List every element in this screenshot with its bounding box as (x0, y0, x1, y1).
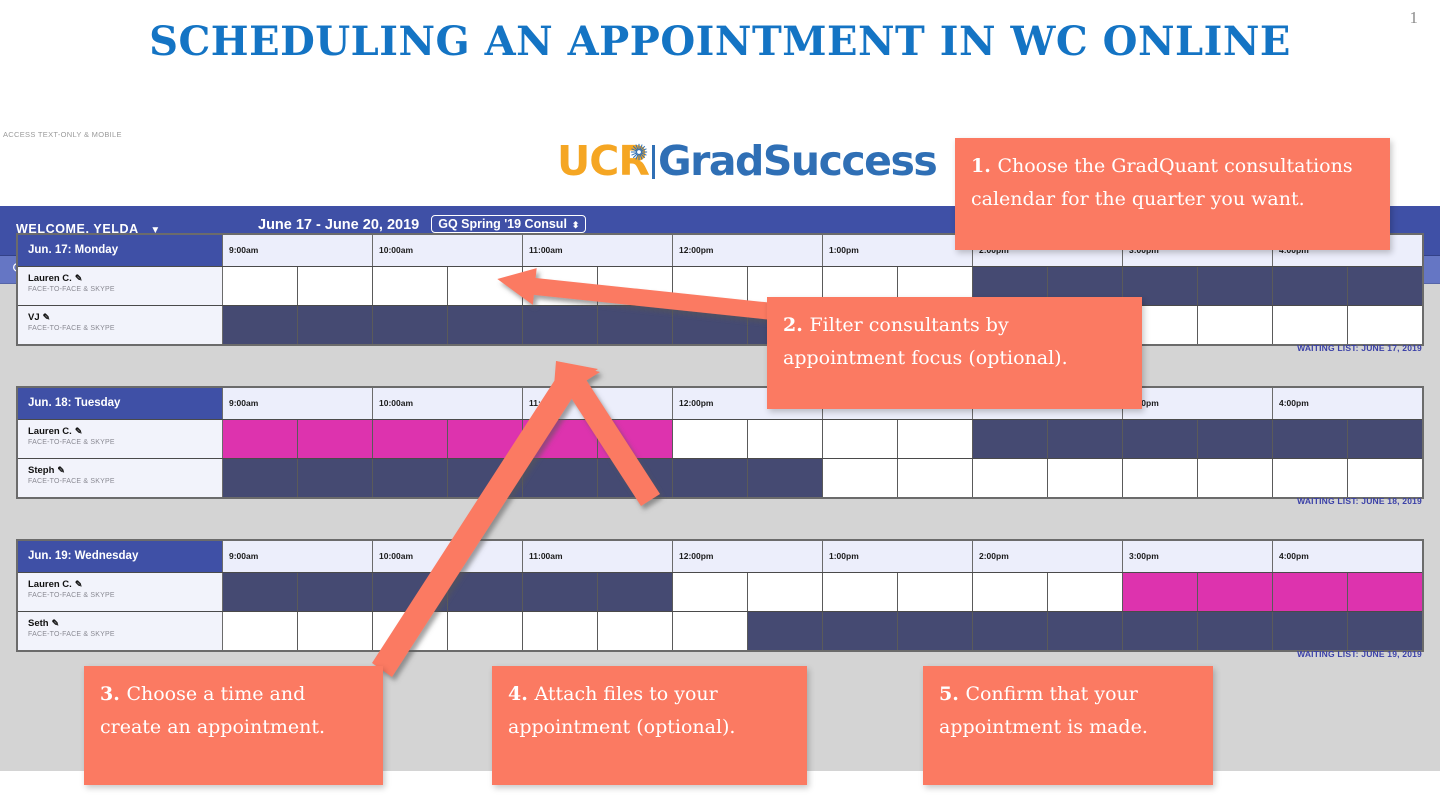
slot-unavailable (748, 459, 823, 497)
slot-available[interactable] (1048, 459, 1123, 497)
slot-available[interactable] (448, 612, 523, 650)
consultant-modality: FACE-TO-FACE & SKYPE (28, 631, 222, 638)
logo-gradsuccess-text: GradSuccess (658, 137, 936, 185)
hour-header: 3:00pm (1123, 541, 1273, 572)
slot-unavailable (1123, 420, 1198, 458)
slot-booked (373, 420, 448, 458)
page-title: SCHEDULING AN APPOINTMENT IN WC ONLINE (0, 18, 1440, 65)
slot-available[interactable] (973, 459, 1048, 497)
slot-unavailable (1348, 420, 1422, 458)
hour-header: 11:00am (523, 541, 673, 572)
access-text-only-link[interactable]: ACCESS TEXT-ONLY & MOBILE (3, 130, 122, 139)
slot-booked (1273, 573, 1348, 611)
week-range-row: June 17 - June 20, 2019 GQ Spring '19 Co… (258, 215, 586, 233)
hour-header: 4:00pm (1273, 388, 1422, 419)
slot-available[interactable] (973, 573, 1048, 611)
slot-available[interactable] (448, 267, 523, 305)
slot-available[interactable] (823, 420, 898, 458)
callout-text: Attach files to your appointment (option… (508, 683, 735, 738)
slot-booked (1123, 573, 1198, 611)
consultant-modality: FACE-TO-FACE & SKYPE (28, 286, 222, 293)
consultant-name: VJ✎ (28, 312, 222, 323)
hour-header: 10:00am (373, 235, 523, 266)
slot-unavailable (448, 459, 523, 497)
slot-available[interactable] (673, 420, 748, 458)
consultant-row: Lauren C.✎FACE-TO-FACE & SKYPE (18, 419, 1422, 458)
sunburst-icon (630, 143, 648, 161)
hour-header: 2:00pm (973, 541, 1123, 572)
ucr-gradsuccess-logo: UCRGradSuccess (557, 141, 936, 182)
slot-unavailable (448, 306, 523, 344)
callout-text: Choose a time and create an appointment. (100, 683, 325, 738)
consultant-row: Lauren C.✎FACE-TO-FACE & SKYPE (18, 266, 1422, 305)
slot-available[interactable] (1123, 459, 1198, 497)
slot-available[interactable] (1273, 459, 1348, 497)
slot-available[interactable] (1198, 459, 1273, 497)
slot-unavailable (298, 306, 373, 344)
hour-header: 4:00pm (1273, 541, 1422, 572)
slot-unavailable (673, 306, 748, 344)
consultant-row: VJ✎FACE-TO-FACE & SKYPE (18, 305, 1422, 344)
consultant-modality: FACE-TO-FACE & SKYPE (28, 592, 222, 599)
waiting-list-link[interactable]: WAITING LIST: JUNE 19, 2019 (1297, 649, 1422, 659)
slot-strip (223, 612, 1422, 650)
day-label: Jun. 18: Tuesday (18, 388, 223, 419)
slot-available[interactable] (223, 612, 298, 650)
slot-unavailable (973, 420, 1048, 458)
slot-unavailable (523, 573, 598, 611)
slot-unavailable (898, 612, 973, 650)
consultant-row: Lauren C.✎FACE-TO-FACE & SKYPE (18, 572, 1422, 611)
slot-available[interactable] (823, 573, 898, 611)
callout-number: 3. (100, 683, 126, 705)
slot-available[interactable] (598, 267, 673, 305)
slot-strip (223, 459, 1422, 497)
slot-unavailable (523, 306, 598, 344)
slot-unavailable (1348, 267, 1422, 305)
hour-header: 11:00am (523, 235, 673, 266)
consultant-row: Steph✎FACE-TO-FACE & SKYPE (18, 458, 1422, 497)
slot-unavailable (1198, 612, 1273, 650)
consultant-modality: FACE-TO-FACE & SKYPE (28, 325, 222, 332)
consultant-name: Lauren C.✎ (28, 426, 222, 437)
term-select-value: GQ Spring '19 Consul (438, 217, 567, 231)
consultant-row: Seth✎FACE-TO-FACE & SKYPE (18, 611, 1422, 650)
slot-available[interactable] (898, 459, 973, 497)
consultant-name: Steph✎ (28, 465, 222, 476)
slot-booked (298, 420, 373, 458)
slot-available[interactable] (898, 420, 973, 458)
slot-available[interactable] (1273, 306, 1348, 344)
consultant-name-cell: Steph✎FACE-TO-FACE & SKYPE (18, 459, 223, 497)
term-select[interactable]: GQ Spring '19 Consul⬍ (431, 215, 586, 233)
callout-5: 5. Confirm that your appointment is made… (923, 666, 1213, 785)
pencil-icon[interactable]: ✎ (75, 426, 83, 436)
pencil-icon[interactable]: ✎ (52, 618, 60, 628)
slot-unavailable (823, 612, 898, 650)
slot-available[interactable] (523, 267, 598, 305)
pencil-icon[interactable]: ✎ (75, 579, 83, 589)
logo-divider (652, 145, 655, 179)
callout-3: 3. Choose a time and create an appointme… (84, 666, 383, 785)
slot-unavailable (373, 306, 448, 344)
callout-text: Choose the GradQuant consultations calen… (971, 155, 1353, 210)
slot-strip (223, 420, 1422, 458)
waiting-list-link[interactable]: WAITING LIST: JUNE 18, 2019 (1297, 496, 1422, 506)
hour-header: 1:00pm (823, 541, 973, 572)
slot-available[interactable] (673, 267, 748, 305)
pencil-icon[interactable]: ✎ (57, 465, 65, 475)
slot-unavailable (298, 459, 373, 497)
slot-available[interactable] (673, 573, 748, 611)
slot-available[interactable] (673, 612, 748, 650)
logo-uc-text: UC (557, 137, 618, 185)
hour-header: 9:00am (223, 235, 373, 266)
slot-available[interactable] (223, 267, 298, 305)
slot-unavailable (223, 306, 298, 344)
callout-text: Filter consultants by appointment focus … (783, 314, 1068, 369)
hour-header: 11:00am (523, 388, 673, 419)
slot-available[interactable] (1348, 459, 1422, 497)
callout-number: 5. (939, 683, 965, 705)
hour-header: 12:00pm (673, 235, 823, 266)
day-label: Jun. 17: Monday (18, 235, 223, 266)
callout-number: 4. (508, 683, 534, 705)
slot-unavailable (1048, 420, 1123, 458)
callout-1: 1. Choose the GradQuant consultations ca… (955, 138, 1390, 250)
slot-available[interactable] (373, 612, 448, 650)
slot-unavailable (448, 573, 523, 611)
slot-available[interactable] (523, 612, 598, 650)
slot-unavailable (1198, 267, 1273, 305)
waiting-list-link[interactable]: WAITING LIST: JUNE 17, 2019 (1297, 343, 1422, 353)
day-block: Jun. 19: Wednesday9:00am10:00am11:00am12… (16, 539, 1424, 652)
slot-available[interactable] (1048, 573, 1123, 611)
slot-unavailable (223, 459, 298, 497)
slot-booked (223, 420, 298, 458)
select-arrows-icon: ⬍ (572, 220, 580, 230)
slot-available[interactable] (373, 267, 448, 305)
day-header: Jun. 18: Tuesday9:00am10:00am11:00am12:0… (18, 388, 1422, 419)
hour-header: 3:00pm (1123, 388, 1273, 419)
slot-unavailable (1348, 612, 1422, 650)
consultant-name-cell: Lauren C.✎FACE-TO-FACE & SKYPE (18, 267, 223, 305)
slot-unavailable (373, 459, 448, 497)
slot-strip (223, 573, 1422, 611)
slot-unavailable (1123, 612, 1198, 650)
slot-unavailable (1273, 420, 1348, 458)
pencil-icon[interactable]: ✎ (43, 312, 51, 322)
consultant-name-cell: Seth✎FACE-TO-FACE & SKYPE (18, 612, 223, 650)
hour-header: 12:00pm (673, 541, 823, 572)
slot-unavailable (598, 306, 673, 344)
slot-booked (448, 420, 523, 458)
callout-4: 4. Attach files to your appointment (opt… (492, 666, 807, 785)
consultant-name-cell: Lauren C.✎FACE-TO-FACE & SKYPE (18, 420, 223, 458)
slot-unavailable (223, 573, 298, 611)
slot-available[interactable] (1348, 306, 1422, 344)
slot-available[interactable] (823, 459, 898, 497)
slot-unavailable (973, 612, 1048, 650)
callout-number: 1. (971, 155, 997, 177)
slot-available[interactable] (298, 267, 373, 305)
hour-header: 10:00am (373, 388, 523, 419)
slot-unavailable (523, 459, 598, 497)
slot-booked (598, 420, 673, 458)
slot-unavailable (1273, 267, 1348, 305)
slot-booked (1198, 573, 1273, 611)
slot-unavailable (1048, 612, 1123, 650)
day-label: Jun. 19: Wednesday (18, 541, 223, 572)
slot-available[interactable] (748, 420, 823, 458)
consultant-name-cell: Lauren C.✎FACE-TO-FACE & SKYPE (18, 573, 223, 611)
slot-booked (523, 420, 598, 458)
slot-unavailable (598, 459, 673, 497)
slot-unavailable (373, 573, 448, 611)
slot-available[interactable] (298, 612, 373, 650)
slot-unavailable (748, 612, 823, 650)
callout-text: Confirm that your appointment is made. (939, 683, 1148, 738)
week-range-label: June 17 - June 20, 2019 (258, 217, 419, 233)
hour-header: 9:00am (223, 541, 373, 572)
consultant-modality: FACE-TO-FACE & SKYPE (28, 439, 222, 446)
slot-available[interactable] (1198, 306, 1273, 344)
slot-booked (1348, 573, 1422, 611)
day-header: Jun. 19: Wednesday9:00am10:00am11:00am12… (18, 541, 1422, 572)
slot-unavailable (1198, 420, 1273, 458)
consultant-name: Lauren C.✎ (28, 579, 222, 590)
slot-available[interactable] (748, 573, 823, 611)
slot-unavailable (673, 459, 748, 497)
consultant-name: Seth✎ (28, 618, 222, 629)
hour-header: 9:00am (223, 388, 373, 419)
hour-header: 1:00pm (823, 235, 973, 266)
slot-unavailable (598, 573, 673, 611)
callout-2: 2. Filter consultants by appointment foc… (767, 297, 1142, 409)
slot-available[interactable] (598, 612, 673, 650)
callout-number: 2. (783, 314, 809, 336)
slot-unavailable (298, 573, 373, 611)
slot-available[interactable] (898, 573, 973, 611)
slot-unavailable (1273, 612, 1348, 650)
consultant-name: Lauren C.✎ (28, 273, 222, 284)
consultant-name-cell: VJ✎FACE-TO-FACE & SKYPE (18, 306, 223, 344)
day-block: Jun. 18: Tuesday9:00am10:00am11:00am12:0… (16, 386, 1424, 499)
consultant-modality: FACE-TO-FACE & SKYPE (28, 478, 222, 485)
pencil-icon[interactable]: ✎ (75, 273, 83, 283)
hour-header: 10:00am (373, 541, 523, 572)
